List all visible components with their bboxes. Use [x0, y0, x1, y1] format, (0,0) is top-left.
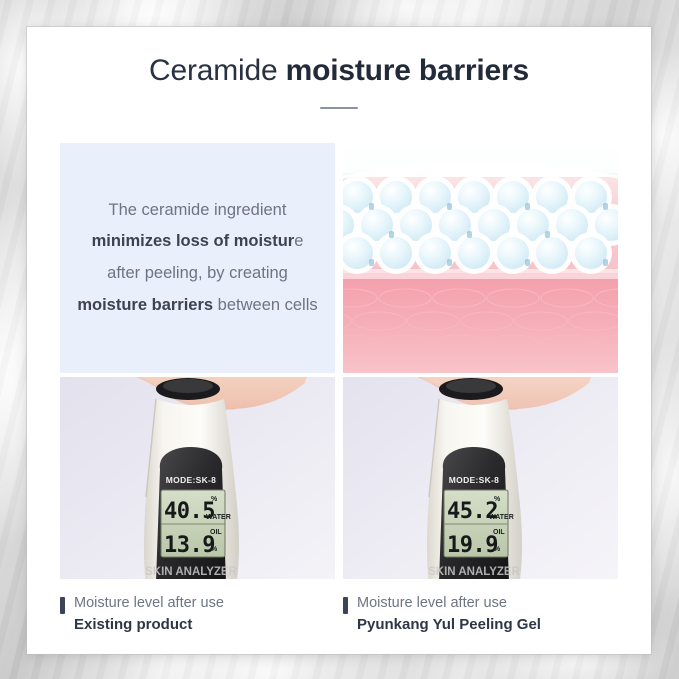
info-row: The ceramide ingredient minimizes loss o…: [60, 143, 618, 373]
caption-existing-product: Moisture level after use Existing produc…: [60, 593, 335, 636]
page-title-light: Ceramide: [149, 54, 286, 87]
page-title: Ceramide moisture barriers: [27, 27, 651, 89]
description-line-1: The ceramide ingredient: [77, 195, 317, 227]
meter-oil-value-right: 19.9: [447, 533, 498, 558]
meter-oil-value-left: 13.9: [164, 533, 215, 558]
moisture-meter-photo-right: MODE:SK-8 45.2 % WATER 19.9 OIL % SKIN A…: [343, 377, 618, 579]
meter-water-unit-left: %: [211, 496, 218, 503]
meter-brand-right: SKIN ANALYZER: [428, 566, 520, 578]
meter-brand-left: SKIN ANALYZER: [145, 566, 237, 578]
content-card: Ceramide moisture barriers The ceramide …: [27, 27, 651, 654]
photo-existing-product: MODE:SK-8 40.5 % WATER 13.9 OIL % SKIN: [60, 377, 335, 579]
caption-left-top: Moisture level after use: [74, 593, 224, 614]
description-line-2: minimizes loss of moisture: [77, 226, 317, 258]
meter-oil-label-right: OIL: [493, 529, 505, 536]
caption-marker-bar-left: [60, 597, 65, 614]
title-divider: [320, 107, 358, 109]
meter-water-unit-right: %: [494, 496, 501, 503]
description-line-2-bold: minimizes loss of moistur: [92, 232, 295, 250]
page-frame: Ceramide moisture barriers The ceramide …: [0, 0, 679, 679]
caption-pyunkang-yul: Moisture level after use Pyunkang Yul Pe…: [343, 593, 618, 636]
page-title-bold: moisture barriers: [286, 54, 529, 87]
description-panel: The ceramide ingredient minimizes loss o…: [60, 143, 335, 373]
moisture-meter-photo-left: MODE:SK-8 40.5 % WATER 13.9 OIL % SKIN: [60, 377, 335, 579]
photo-pyunkang-yul-peeling-gel: MODE:SK-8 45.2 % WATER 19.9 OIL % SKIN A…: [343, 377, 618, 579]
caption-left-bottom: Existing product: [74, 614, 224, 636]
meter-mode-label-right: MODE:SK-8: [449, 475, 499, 485]
caption-row: Moisture level after use Existing produc…: [60, 593, 618, 636]
caption-right-bottom: Pyunkang Yul Peeling Gel: [357, 614, 541, 636]
description-line-3: after peeling, by creating: [77, 258, 317, 290]
description-line-4-tail: between cells: [213, 296, 318, 314]
meter-oil-unit-left: %: [211, 546, 218, 553]
description-line-4: moisture barriers between cells: [77, 290, 317, 322]
description-line-4-bold: moisture barriers: [77, 296, 213, 314]
meter-water-label-left: WATER: [206, 514, 231, 521]
caption-marker-bar-right: [343, 597, 348, 614]
description-line-2-tail: e: [294, 232, 303, 250]
skin-cross-section-graphic: [343, 143, 618, 373]
meter-water-label-right: WATER: [489, 514, 514, 521]
caption-right-top: Moisture level after use: [357, 593, 541, 614]
skin-illustration: [343, 143, 618, 373]
description-text: The ceramide ingredient minimizes loss o…: [77, 195, 317, 322]
comparison-photo-row: MODE:SK-8 40.5 % WATER 13.9 OIL % SKIN: [60, 377, 618, 579]
meter-mode-label-left: MODE:SK-8: [166, 475, 216, 485]
meter-oil-label-left: OIL: [210, 529, 222, 536]
meter-oil-unit-right: %: [494, 546, 501, 553]
